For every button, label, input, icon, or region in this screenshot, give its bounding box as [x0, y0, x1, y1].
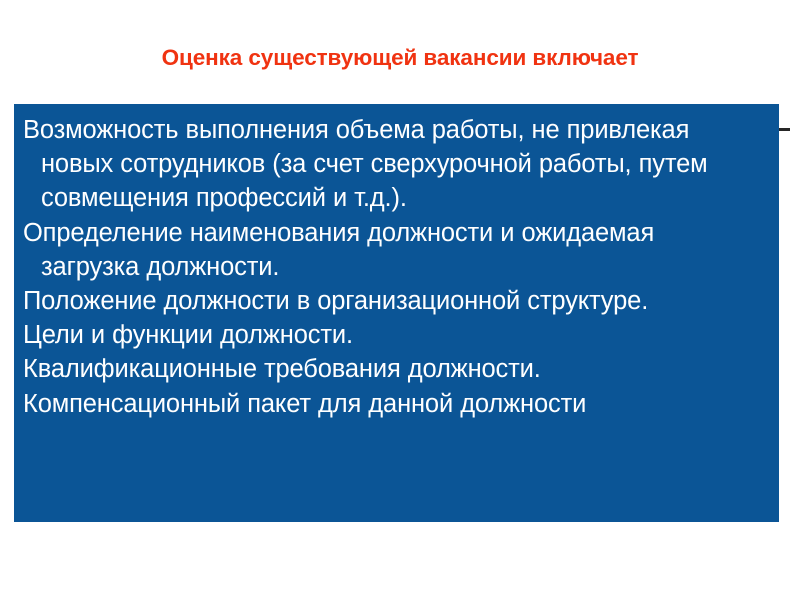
slide-canvas: Оценка существующей вакансии включает Во… — [0, 0, 800, 600]
list-item: Определение наименования должности и ожи… — [23, 216, 721, 284]
list-item: Компенсационный пакет для данной должнос… — [23, 387, 721, 421]
list-item: Цели и функции должности. — [23, 318, 721, 352]
dash-artifact — [779, 128, 790, 131]
bullet-list: Возможность выполнения объема работы, не… — [23, 113, 769, 421]
list-item: Положение должности в организационной ст… — [23, 284, 721, 318]
list-item: Квалификационные требования должности. — [23, 352, 721, 386]
page-title: Оценка существующей вакансии включает — [0, 44, 800, 72]
list-item: Возможность выполнения объема работы, не… — [23, 113, 721, 216]
content-panel: Возможность выполнения объема работы, не… — [14, 104, 779, 522]
